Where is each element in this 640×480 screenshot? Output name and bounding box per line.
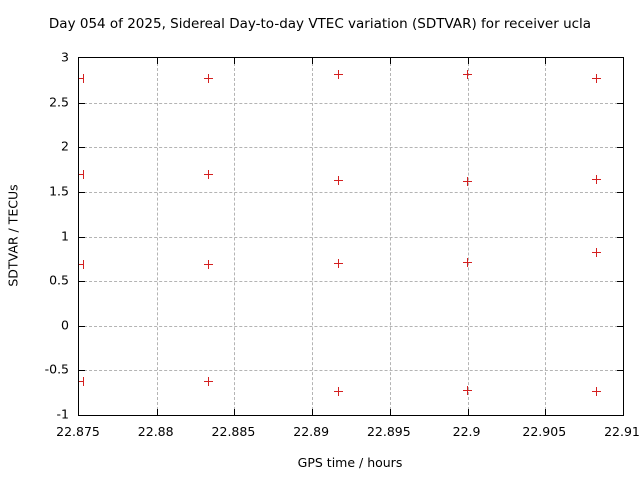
x-tick-mark <box>157 58 158 64</box>
data-point-marker <box>334 176 343 185</box>
data-point-marker <box>463 386 472 395</box>
y-tick-mark <box>79 370 85 371</box>
x-tick-mark <box>468 409 469 415</box>
y-tick-mark <box>617 281 623 282</box>
data-point-marker <box>204 260 213 269</box>
x-tick-mark <box>312 409 313 415</box>
data-points <box>79 58 623 415</box>
data-point-marker <box>204 170 213 179</box>
x-tick-label: 22.89 <box>293 424 329 439</box>
data-point-marker <box>592 248 601 257</box>
data-point-marker <box>463 258 472 267</box>
gridline-vertical <box>234 58 235 415</box>
data-point-marker <box>334 387 343 396</box>
data-point-marker <box>334 70 343 79</box>
plot-area <box>78 57 624 416</box>
x-tick-mark <box>234 58 235 64</box>
x-tick-mark <box>157 409 158 415</box>
y-tick-mark <box>617 147 623 148</box>
x-tick-label: 22.9 <box>453 424 481 439</box>
x-tick-mark <box>234 409 235 415</box>
y-tick-mark <box>617 237 623 238</box>
gridline-vertical <box>468 58 469 415</box>
data-point-marker <box>592 175 601 184</box>
gridline-horizontal <box>79 326 623 327</box>
data-point-marker <box>592 74 601 83</box>
gridlines <box>79 58 623 415</box>
y-tick-mark <box>79 103 85 104</box>
gridline-vertical <box>545 58 546 415</box>
y-axis-title-text: SDTVAR / TECUs <box>6 184 21 286</box>
x-tick-mark <box>312 58 313 64</box>
chart-title: Day 054 of 2025, Sidereal Day-to-day VTE… <box>0 16 640 32</box>
y-tick-mark <box>79 192 85 193</box>
y-tick-mark <box>79 147 85 148</box>
y-tick-mark <box>617 103 623 104</box>
x-tick-mark <box>545 409 546 415</box>
x-tick-label: 22.905 <box>522 424 566 439</box>
gridline-horizontal <box>79 281 623 282</box>
axis-ticks <box>79 58 623 415</box>
data-point-marker <box>334 259 343 268</box>
data-point-marker <box>204 377 213 386</box>
data-point-marker <box>463 70 472 79</box>
x-tick-label: 22.91 <box>604 424 640 439</box>
x-tick-mark <box>390 58 391 64</box>
gridline-horizontal <box>79 147 623 148</box>
data-point-marker <box>204 74 213 83</box>
y-tick-mark <box>79 237 85 238</box>
data-point-marker <box>79 377 84 386</box>
gridline-vertical <box>157 58 158 415</box>
gridline-vertical <box>312 58 313 415</box>
y-tick-mark <box>617 192 623 193</box>
x-axis-title: GPS time / hours <box>78 455 622 470</box>
x-tick-mark <box>468 58 469 64</box>
y-tick-mark <box>617 370 623 371</box>
gridline-horizontal <box>79 237 623 238</box>
data-point-marker <box>463 177 472 186</box>
x-tick-mark <box>390 409 391 415</box>
data-point-marker <box>79 170 84 179</box>
data-point-marker <box>79 260 84 269</box>
gridline-horizontal <box>79 103 623 104</box>
chart-root: Day 054 of 2025, Sidereal Day-to-day VTE… <box>0 0 640 480</box>
x-tick-mark <box>545 58 546 64</box>
y-tick-mark <box>79 326 85 327</box>
gridline-horizontal <box>79 192 623 193</box>
gridline-horizontal <box>79 370 623 371</box>
x-tick-label: 22.875 <box>56 424 100 439</box>
gridline-vertical <box>390 58 391 415</box>
y-tick-mark <box>79 281 85 282</box>
data-point-marker <box>592 387 601 396</box>
y-axis-title: SDTVAR / TECUs <box>4 57 22 414</box>
x-tick-label: 22.895 <box>367 424 411 439</box>
x-tick-label: 22.88 <box>138 424 174 439</box>
data-point-marker <box>79 74 84 83</box>
y-tick-mark <box>617 326 623 327</box>
x-tick-label: 22.885 <box>212 424 256 439</box>
